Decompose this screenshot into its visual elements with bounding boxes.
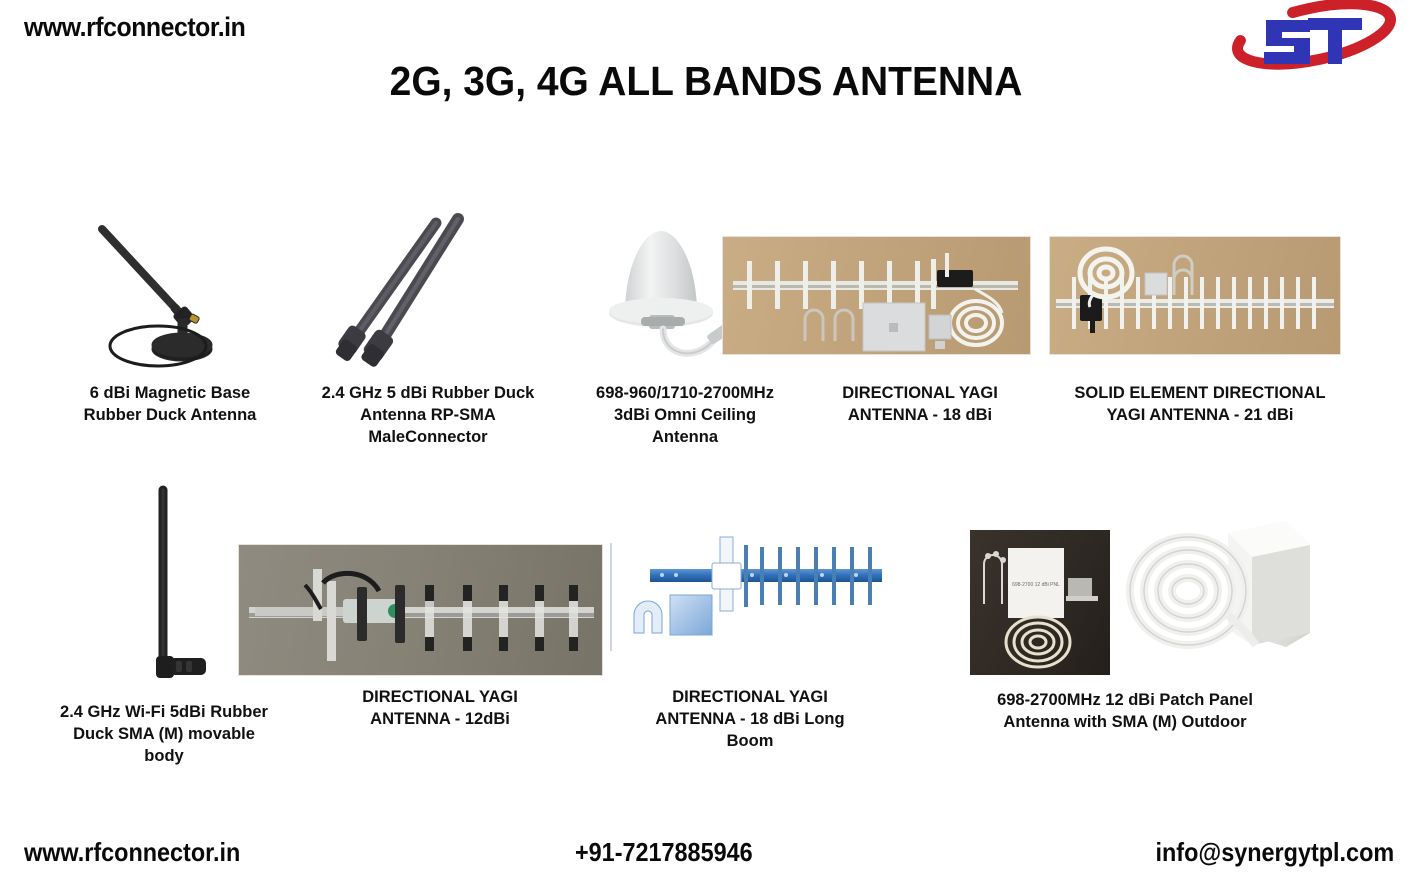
poster-page: www.rfconnector.in 2G, 3G, 4G ALL BANDS … [0, 0, 1412, 890]
product-image-patch-panel-with-cable [1110, 515, 1320, 680]
product-caption-yagi-18dbi-long-boom: DIRECTIONAL YAGI ANTENNA - 18 dBi Long B… [600, 687, 900, 753]
product-caption-patch-panel-12dbi: 698-2700MHz 12 dBi Patch Panel Antenna w… [925, 690, 1325, 734]
product-image-patch-panel-kit: 698-2700 12 dBi PNL [970, 530, 1110, 675]
product-card-yagi-18dbi: DIRECTIONAL YAGI ANTENNA - 18 dBi [790, 215, 1050, 455]
product-caption-yagi-18dbi: DIRECTIONAL YAGI ANTENNA - 18 dBi [790, 383, 1050, 427]
caption-line: DIRECTIONAL YAGI [790, 383, 1050, 405]
product-card-yagi-21dbi-solid-element: SOLID ELEMENT DIRECTIONAL YAGI ANTENNA -… [1050, 215, 1360, 455]
svg-text:698-2700 12 dBi PNL: 698-2700 12 dBi PNL [1012, 582, 1060, 588]
product-card-magnetic-base-rubber-duck: 6 dBi Magnetic Base Rubber Duck Antenna [30, 215, 310, 455]
product-image-wifi-5dbi-movable [64, 480, 264, 685]
caption-line: Antenna [550, 427, 820, 449]
product-image-rubber-duck-rpsma [308, 215, 548, 365]
caption-line: 2.4 GHz Wi-Fi 5dBi Rubber [24, 702, 304, 724]
product-image-yagi-18dbi-long-boom [610, 515, 900, 675]
product-caption-rubber-duck-rpsma: 2.4 GHz 5 dBi Rubber Duck Antenna RP-SMA… [288, 383, 568, 449]
product-card-patch-panel-12dbi: 698-2700 12 dBi PNL [925, 480, 1325, 780]
caption-line: body [24, 746, 304, 768]
page-title: 2G, 3G, 4G ALL BANDS ANTENNA [35, 58, 1376, 105]
caption-line: 698-960/1710-2700MHz [550, 383, 820, 405]
caption-line: Rubber Duck Antenna [30, 405, 310, 427]
product-image-magnetic-base-rubber-duck [50, 215, 290, 365]
caption-line: ANTENNA - 18 dBi [790, 405, 1050, 427]
caption-line: ANTENNA - 12dBi [315, 709, 565, 731]
product-image-yagi-12dbi [239, 545, 602, 675]
product-card-rubber-duck-rpsma: 2.4 GHz 5 dBi Rubber Duck Antenna RP-SMA… [288, 215, 568, 455]
caption-line: Boom [600, 731, 900, 753]
product-caption-wifi-5dbi-movable: 2.4 GHz Wi-Fi 5dBi Rubber Duck SMA (M) m… [24, 702, 304, 768]
caption-line: 2.4 GHz 5 dBi Rubber Duck [288, 383, 568, 405]
product-card-yagi-12dbi: DIRECTIONAL YAGI ANTENNA - 12dBi [295, 480, 585, 780]
footer-website[interactable]: www.rfconnector.in [24, 837, 240, 868]
caption-line: ANTENNA - 18 dBi Long [600, 709, 900, 731]
product-card-yagi-18dbi-long-boom: DIRECTIONAL YAGI ANTENNA - 18 dBi Long B… [600, 480, 900, 780]
product-caption-yagi-12dbi: DIRECTIONAL YAGI ANTENNA - 12dBi [315, 687, 565, 731]
caption-line: SOLID ELEMENT DIRECTIONAL [1050, 383, 1350, 405]
caption-line: Antenna with SMA (M) Outdoor [925, 712, 1325, 734]
caption-line: Duck SMA (M) movable [24, 724, 304, 746]
product-caption-omni-ceiling: 698-960/1710-2700MHz 3dBi Omni Ceiling A… [550, 383, 820, 449]
footer-email[interactable]: info@synergytpl.com [1155, 837, 1394, 868]
caption-line: MaleConnector [288, 427, 568, 449]
caption-line: DIRECTIONAL YAGI [600, 687, 900, 709]
product-image-yagi-18dbi [723, 237, 1030, 354]
caption-line: 698-2700MHz 12 dBi Patch Panel [925, 690, 1325, 712]
caption-line: 3dBi Omni Ceiling [550, 405, 820, 427]
product-caption-magnetic-base-rubber-duck: 6 dBi Magnetic Base Rubber Duck Antenna [30, 383, 310, 427]
product-image-yagi-21dbi-solid-element [1050, 237, 1340, 354]
header-site-url: www.rfconnector.in [24, 12, 245, 43]
caption-line: YAGI ANTENNA - 21 dBi [1050, 405, 1350, 427]
footer-phone[interactable]: +91-7217885946 [575, 837, 753, 868]
caption-line: Antenna RP-SMA [288, 405, 568, 427]
caption-line: 6 dBi Magnetic Base [30, 383, 310, 405]
caption-line: DIRECTIONAL YAGI [315, 687, 565, 709]
product-caption-yagi-21dbi-solid-element: SOLID ELEMENT DIRECTIONAL YAGI ANTENNA -… [1050, 383, 1350, 427]
